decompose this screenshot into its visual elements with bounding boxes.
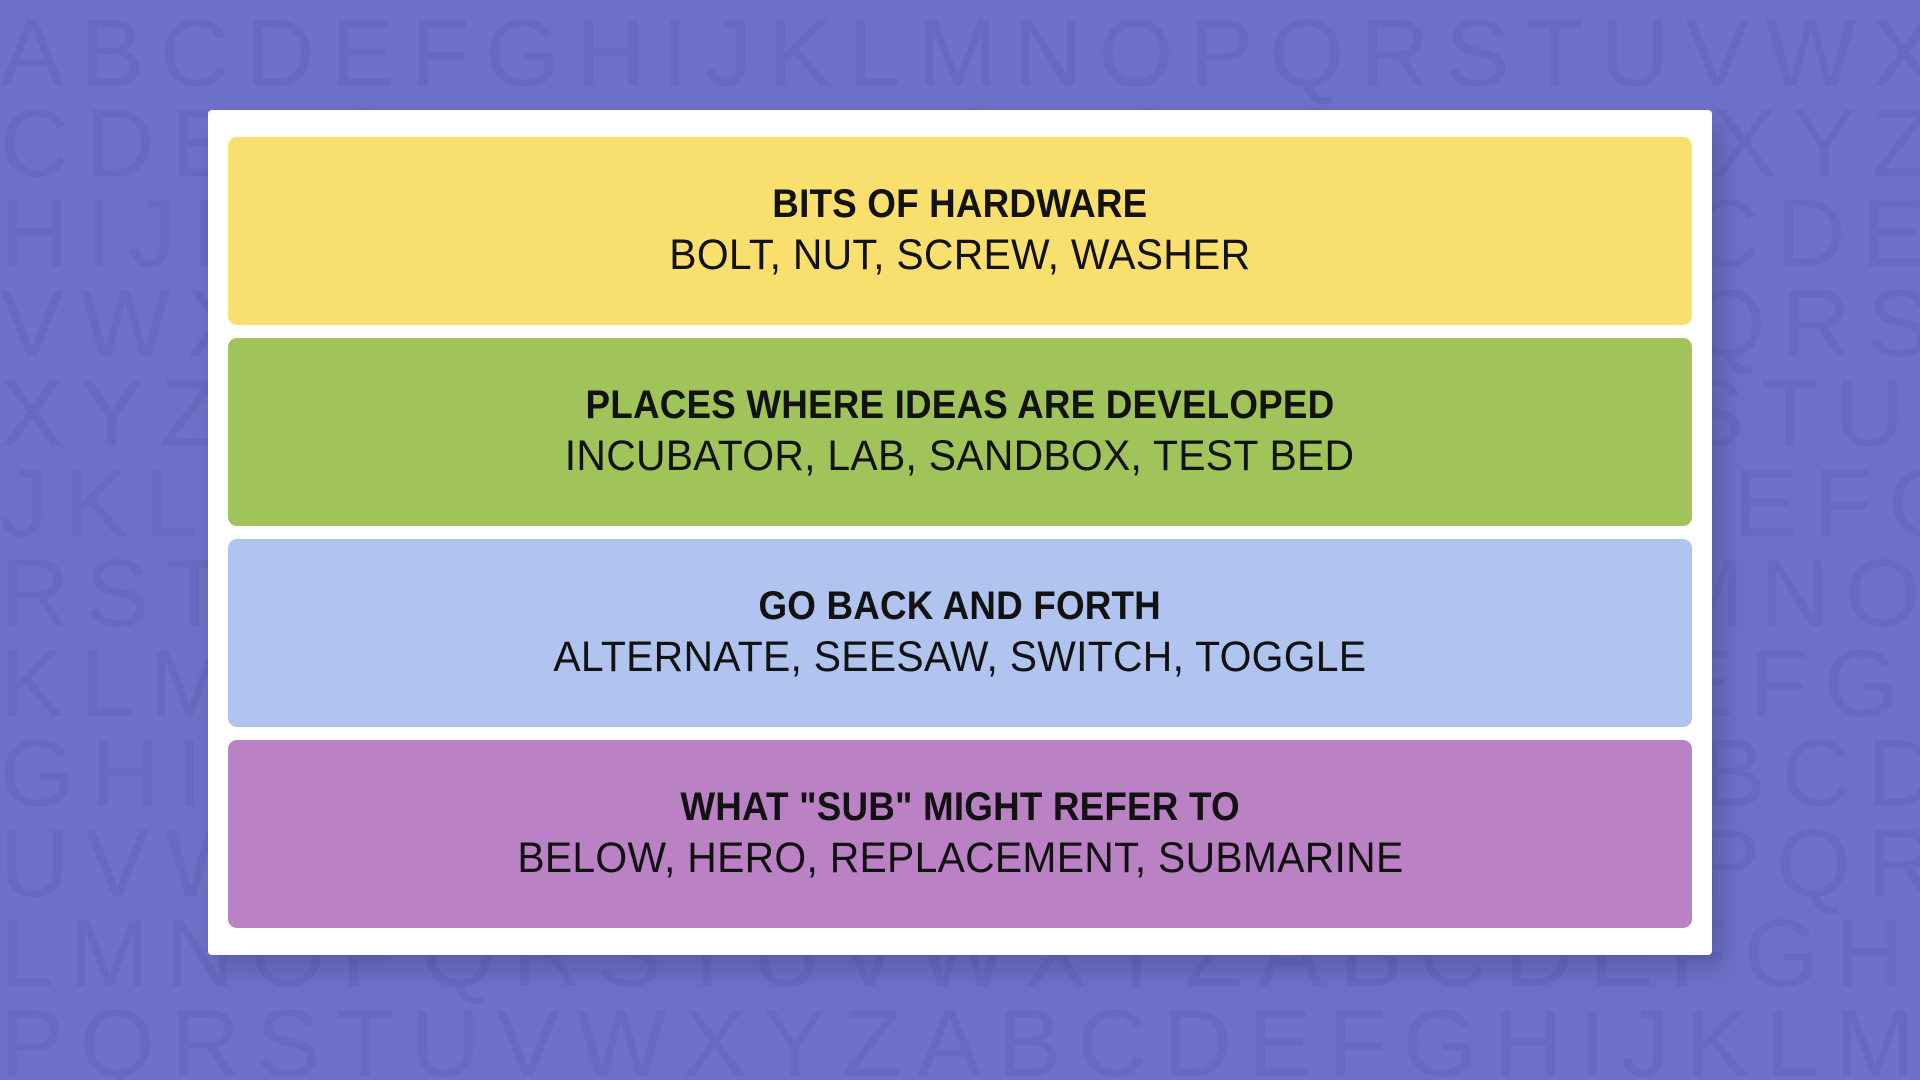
category-title: PLACES WHERE IDEAS ARE DEVELOPED	[586, 382, 1335, 428]
connections-answer-card: BITS OF HARDWARE BOLT, NUT, SCREW, WASHE…	[208, 110, 1712, 955]
category-words: INCUBATOR, LAB, SANDBOX, TEST BED	[565, 430, 1355, 482]
category-row-purple: WHAT "SUB" MIGHT REFER TO BELOW, HERO, R…	[228, 740, 1692, 928]
category-words: BELOW, HERO, REPLACEMENT, SUBMARINE	[517, 832, 1403, 884]
category-words: ALTERNATE, SEESAW, SWITCH, TOGGLE	[554, 631, 1367, 683]
category-row-green: PLACES WHERE IDEAS ARE DEVELOPED INCUBAT…	[228, 338, 1692, 526]
category-title: BITS OF HARDWARE	[772, 181, 1147, 227]
category-title: WHAT "SUB" MIGHT REFER TO	[680, 784, 1239, 830]
background-letter-row: PQRSTUVWXYZABCDEFGHIJKLMNOPQRSTUV	[0, 996, 1920, 1080]
category-words: BOLT, NUT, SCREW, WASHER	[669, 229, 1250, 281]
category-row-blue: GO BACK AND FORTH ALTERNATE, SEESAW, SWI…	[228, 539, 1692, 727]
category-title: GO BACK AND FORTH	[759, 583, 1161, 629]
background-letter-row: ABCDEFGHIJKLMNOPQRSTUVWXYZABCDEFG	[0, 6, 1920, 102]
category-row-yellow: BITS OF HARDWARE BOLT, NUT, SCREW, WASHE…	[228, 137, 1692, 325]
